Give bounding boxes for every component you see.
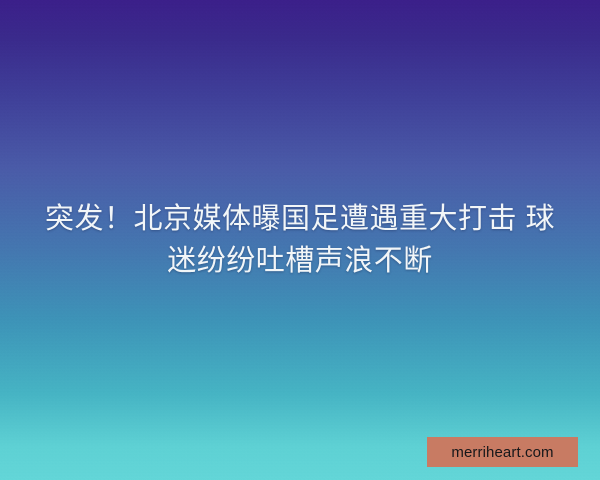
- watermark-label: merriheart.com: [451, 445, 553, 460]
- news-card: 突发！北京媒体曝国足遭遇重大打击 球迷纷纷吐槽声浪不断 merriheart.c…: [0, 0, 600, 480]
- headline-text: 突发！北京媒体曝国足遭遇重大打击 球迷纷纷吐槽声浪不断: [38, 198, 562, 282]
- watermark-badge[interactable]: merriheart.com: [427, 437, 578, 467]
- headline-block: 突发！北京媒体曝国足遭遇重大打击 球迷纷纷吐槽声浪不断: [0, 198, 600, 282]
